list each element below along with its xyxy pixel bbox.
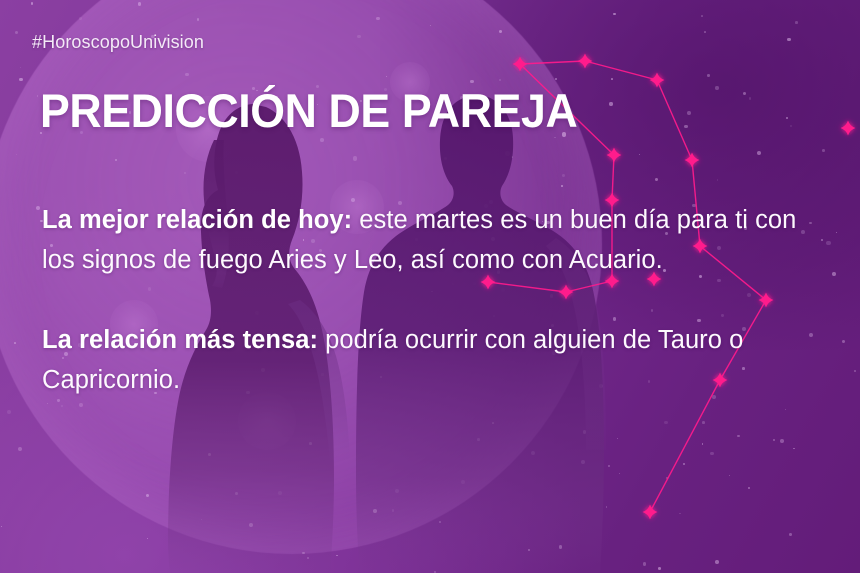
hashtag-label: #HoroscopoUnivision: [32, 32, 204, 53]
page-title: PREDICCIÓN DE PAREJA: [40, 87, 577, 134]
paragraph-best-relationship: La mejor relación de hoy: este martes es…: [42, 200, 832, 280]
paragraph-tense-relationship: La relación más tensa: podría ocurrir co…: [42, 320, 832, 400]
card-content: #HoroscopoUnivision PREDICCIÓN DE PAREJA…: [0, 0, 860, 573]
paragraph-lead: La relación más tensa:: [42, 326, 318, 354]
body-text-block: La mejor relación de hoy: este martes es…: [42, 200, 832, 400]
paragraph-lead: La mejor relación de hoy:: [42, 206, 352, 234]
horoscope-card: #HoroscopoUnivision PREDICCIÓN DE PAREJA…: [0, 0, 860, 573]
